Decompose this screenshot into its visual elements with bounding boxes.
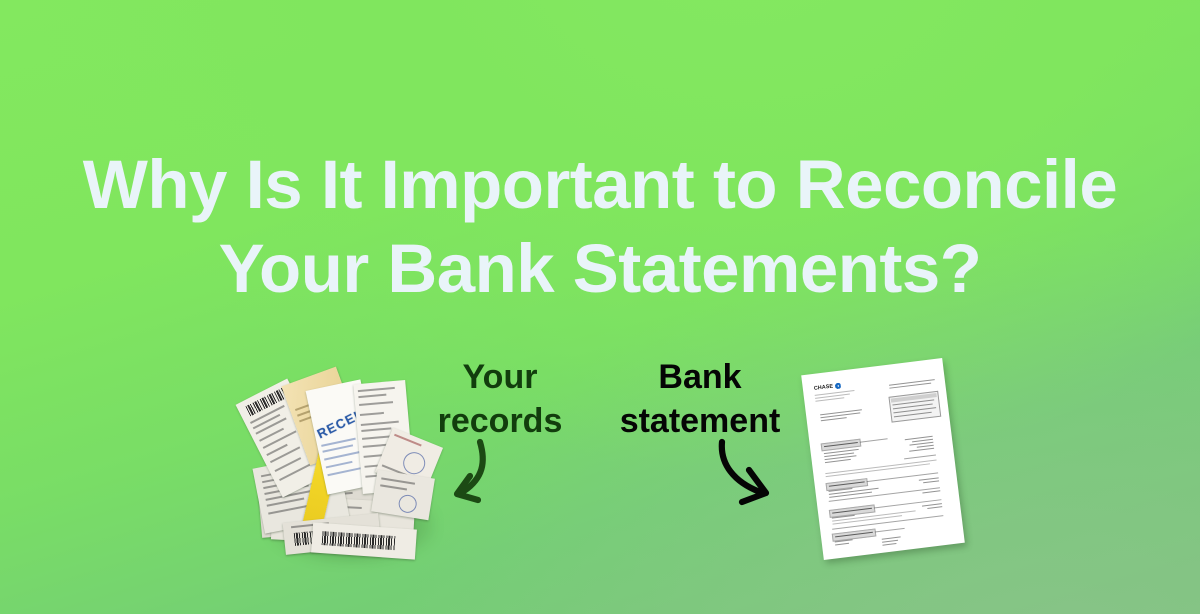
statement-period-meta	[889, 379, 935, 390]
withdrawals-amounts	[922, 503, 943, 511]
arrow-to-receipts	[428, 436, 558, 526]
page-title-line-2: Your Bank Statements?	[0, 227, 1200, 311]
callout-bank-statement-line-2: statement	[580, 399, 820, 443]
deposits-total	[920, 490, 940, 495]
page-title: Why Is It Important to Reconcile Your Ba…	[0, 143, 1200, 311]
deposits-amounts	[919, 477, 940, 485]
customer-address-block	[820, 409, 863, 423]
account-summary-box	[888, 391, 941, 423]
page-title-line-1: Why Is It Important to Reconcile	[0, 143, 1200, 227]
daily-balance-amounts	[882, 536, 909, 548]
chase-octagon-icon	[835, 383, 842, 390]
callout-bank-statement: Bank statement	[580, 355, 820, 443]
callout-bank-statement-line-1: Bank	[580, 355, 820, 399]
checking-summary-amounts	[905, 436, 935, 454]
arrow-to-statement	[716, 436, 836, 526]
poster-canvas: Why Is It Important to Reconcile Your Ba…	[0, 0, 1200, 614]
receipt-slip	[371, 470, 435, 521]
bank-address-block	[815, 390, 856, 403]
